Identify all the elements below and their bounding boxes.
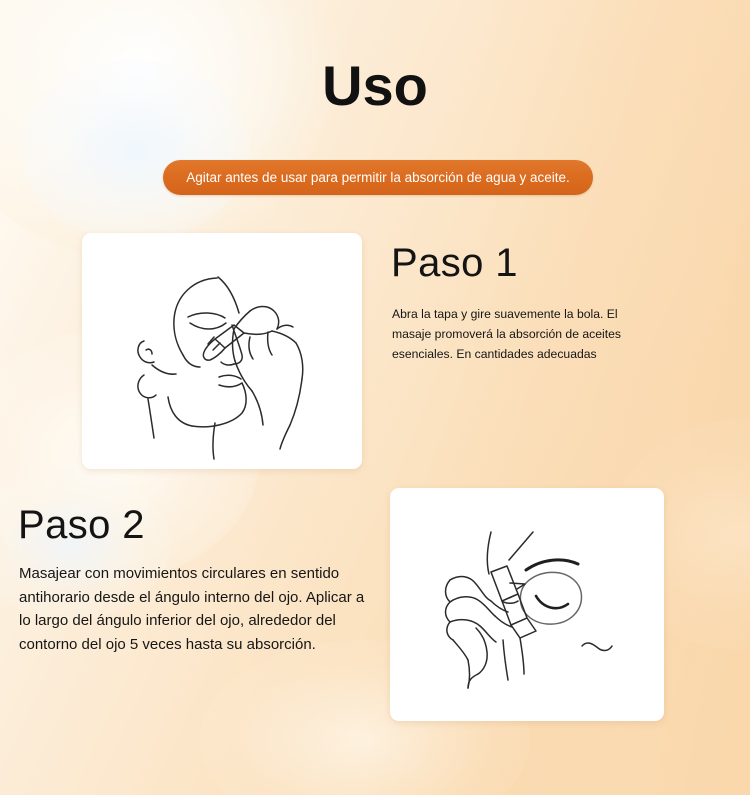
shake-before-use-banner: Agitar antes de usar para permitir la ab… (163, 160, 593, 195)
step-2-heading: Paso 2 (18, 505, 145, 545)
step-2-body: Masajear con movimientos circulares en s… (19, 562, 374, 657)
step-2-illustration-card (390, 488, 664, 721)
page-title: Uso (0, 58, 750, 114)
banner-text: Agitar antes de usar para permitir la ab… (186, 171, 569, 185)
face-profile-roller-illustration (82, 233, 362, 469)
step-1-heading: Paso 1 (391, 243, 518, 283)
step-1-illustration-card (82, 233, 362, 469)
usage-instructions-page: Uso Agitar antes de usar para permitir l… (0, 0, 750, 795)
step-1-body: Abra la tapa y gire suavemente la bola. … (392, 305, 652, 364)
eye-closeup-roller-illustration (390, 488, 664, 721)
